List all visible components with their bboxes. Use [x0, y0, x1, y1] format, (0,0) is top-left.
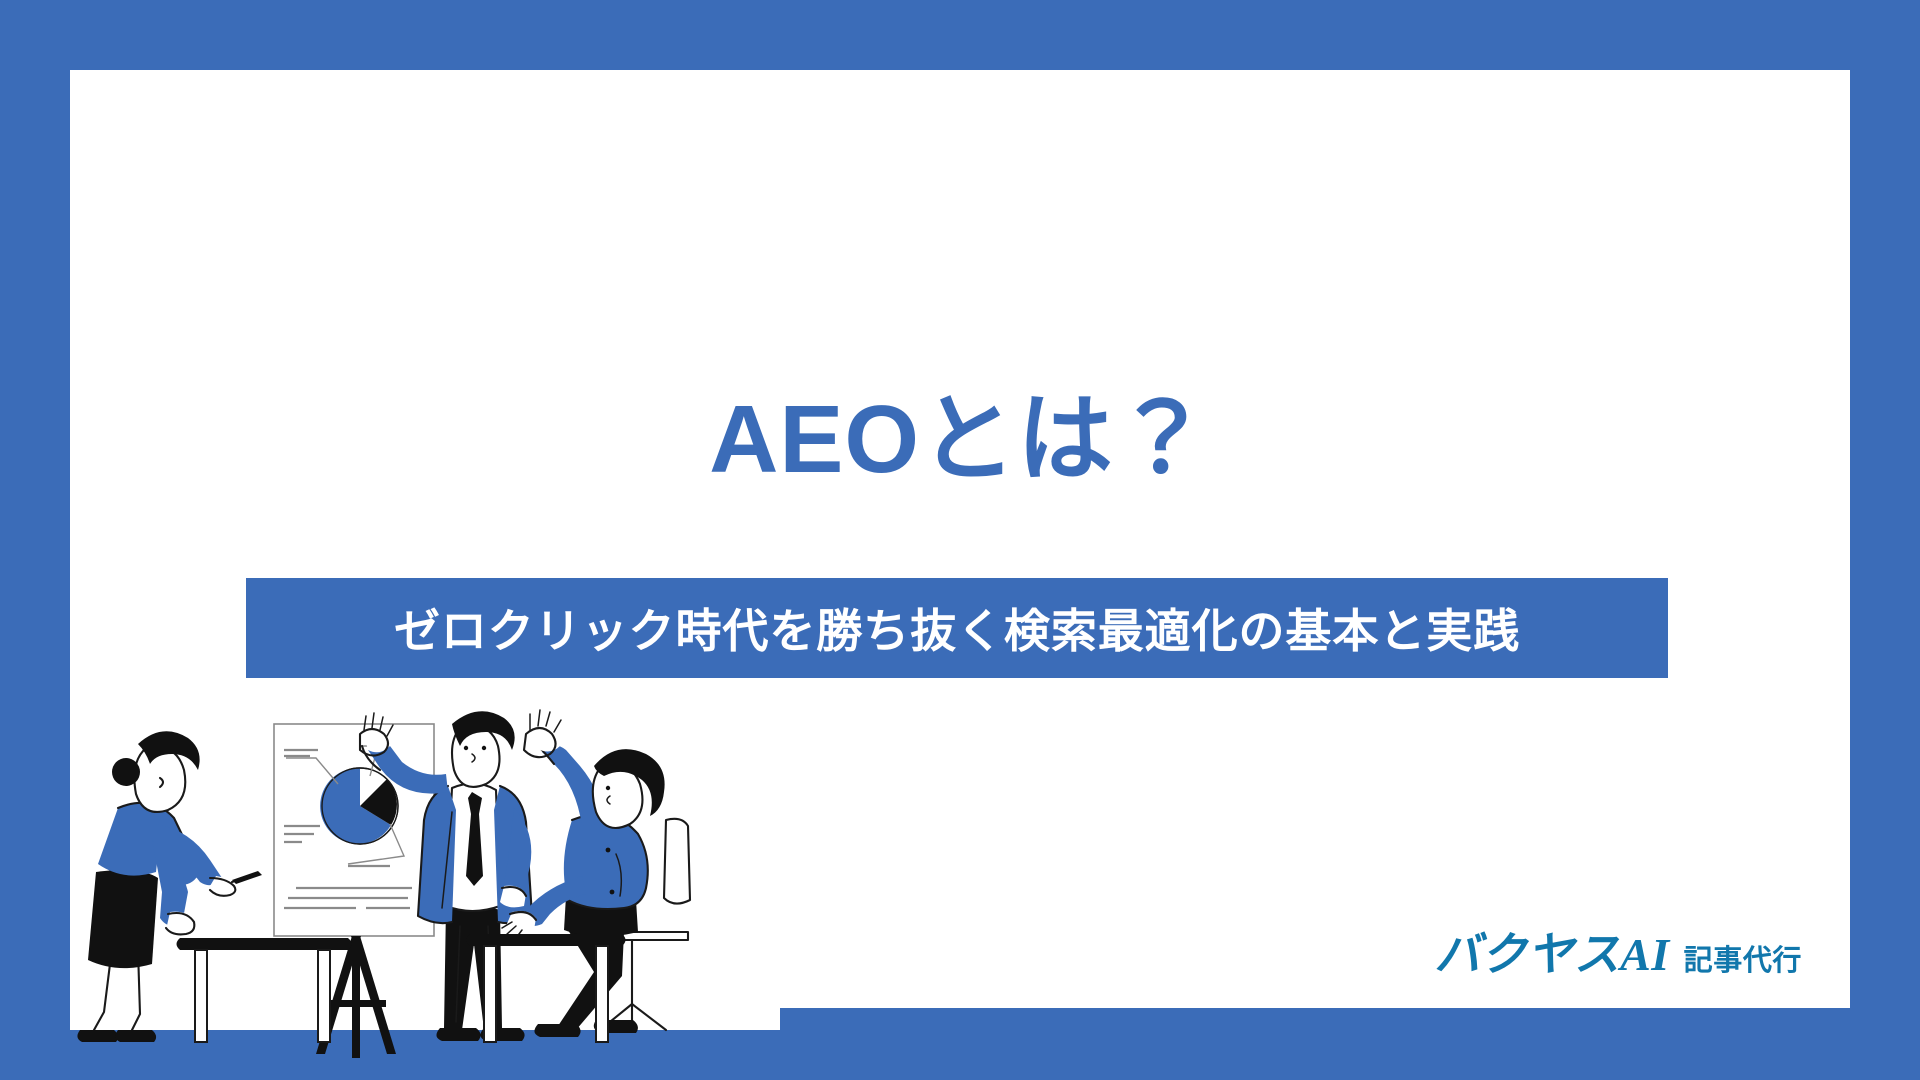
brand-logo-service: 記事代行	[1684, 937, 1802, 979]
brand-logo-name: バクヤスAI	[1434, 918, 1669, 984]
subtitle-text: ゼロクリック時代を勝ち抜く検索最適化の基本と実践	[394, 595, 1520, 661]
floor-band	[60, 1030, 780, 1080]
business-presentation-illustration: .ln { fill:none; stroke:#1a1a1a; stroke-…	[60, 700, 780, 1080]
subtitle-banner: ゼロクリック時代を勝ち抜く検索最適化の基本と実践	[246, 578, 1668, 678]
pie-chart	[320, 768, 398, 844]
page-title: AEOとは？	[0, 385, 1920, 495]
brand-logo: バクヤスAI 記事代行	[1434, 918, 1802, 984]
slide-canvas: AEOとは？ ゼロクリック時代を勝ち抜く検索最適化の基本と実践 .ln { fi…	[0, 0, 1920, 1080]
illustration-svg: .ln { fill:none; stroke:#1a1a1a; stroke-…	[60, 700, 780, 1080]
